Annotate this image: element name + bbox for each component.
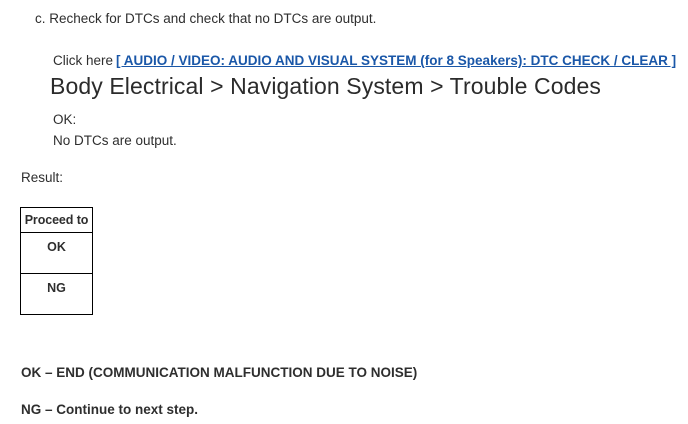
click-here-label: Click here bbox=[53, 53, 113, 68]
outcome-ng-line: NG – Continue to next step. bbox=[21, 401, 198, 418]
ok-condition-label: OK: bbox=[53, 111, 76, 128]
table-cell-ok: OK bbox=[21, 233, 93, 274]
table-row: NG bbox=[21, 274, 93, 315]
click-here-row: Click here[ AUDIO / VIDEO: AUDIO AND VIS… bbox=[53, 52, 676, 69]
table-cell-ng: NG bbox=[21, 274, 93, 315]
table-row: OK bbox=[21, 233, 93, 274]
result-table: Proceed to OK NG bbox=[20, 207, 93, 315]
page-title: Body Electrical > Navigation System > Tr… bbox=[50, 71, 601, 101]
step-instruction: c. Recheck for DTCs and check that no DT… bbox=[35, 10, 376, 27]
document-page: c. Recheck for DTCs and check that no DT… bbox=[0, 0, 688, 424]
result-caption: Result: bbox=[21, 169, 63, 186]
dtc-check-clear-link[interactable]: [ AUDIO / VIDEO: AUDIO AND VISUAL SYSTEM… bbox=[116, 53, 676, 68]
ok-condition-detail: No DTCs are output. bbox=[53, 132, 177, 149]
outcome-ok-line: OK – END (COMMUNICATION MALFUNCTION DUE … bbox=[21, 364, 417, 381]
table-header-row: Proceed to bbox=[21, 208, 93, 233]
table-header-proceed-to: Proceed to bbox=[21, 208, 93, 233]
